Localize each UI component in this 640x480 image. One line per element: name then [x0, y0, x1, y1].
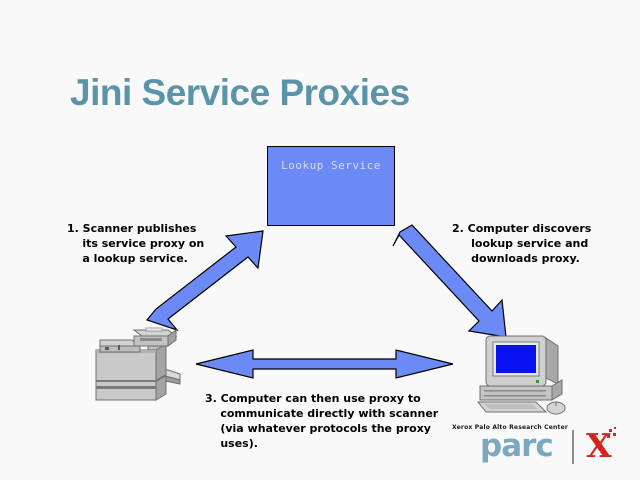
scanner-computer-bidirectional-arrow	[196, 350, 453, 378]
parc-logo: Xerox Palo Alto Research Center parc X	[452, 424, 632, 474]
lookup-service-label: Lookup Service	[268, 159, 394, 172]
lookup-service-box[interactable]: Lookup Service	[267, 146, 395, 226]
xerox-x-mark: X	[584, 426, 628, 468]
desktop-computer-icon	[474, 320, 574, 420]
caption-step-2: 2. Computer discovers lookup service and…	[452, 221, 591, 266]
scanner-printer-icon	[88, 322, 188, 404]
logo-divider	[572, 430, 574, 464]
caption-step-1: 1. Scanner publishes its service proxy o…	[67, 221, 204, 266]
xerox-sparkle-icon	[584, 426, 628, 468]
page-title: Jini Service Proxies	[70, 72, 410, 114]
caption-step-3: 3. Computer can then use proxy to commun…	[205, 391, 438, 451]
parc-wordmark: parc	[480, 430, 553, 462]
slide-canvas: Jini Service Proxies Lookup Service 1. S…	[0, 0, 640, 480]
